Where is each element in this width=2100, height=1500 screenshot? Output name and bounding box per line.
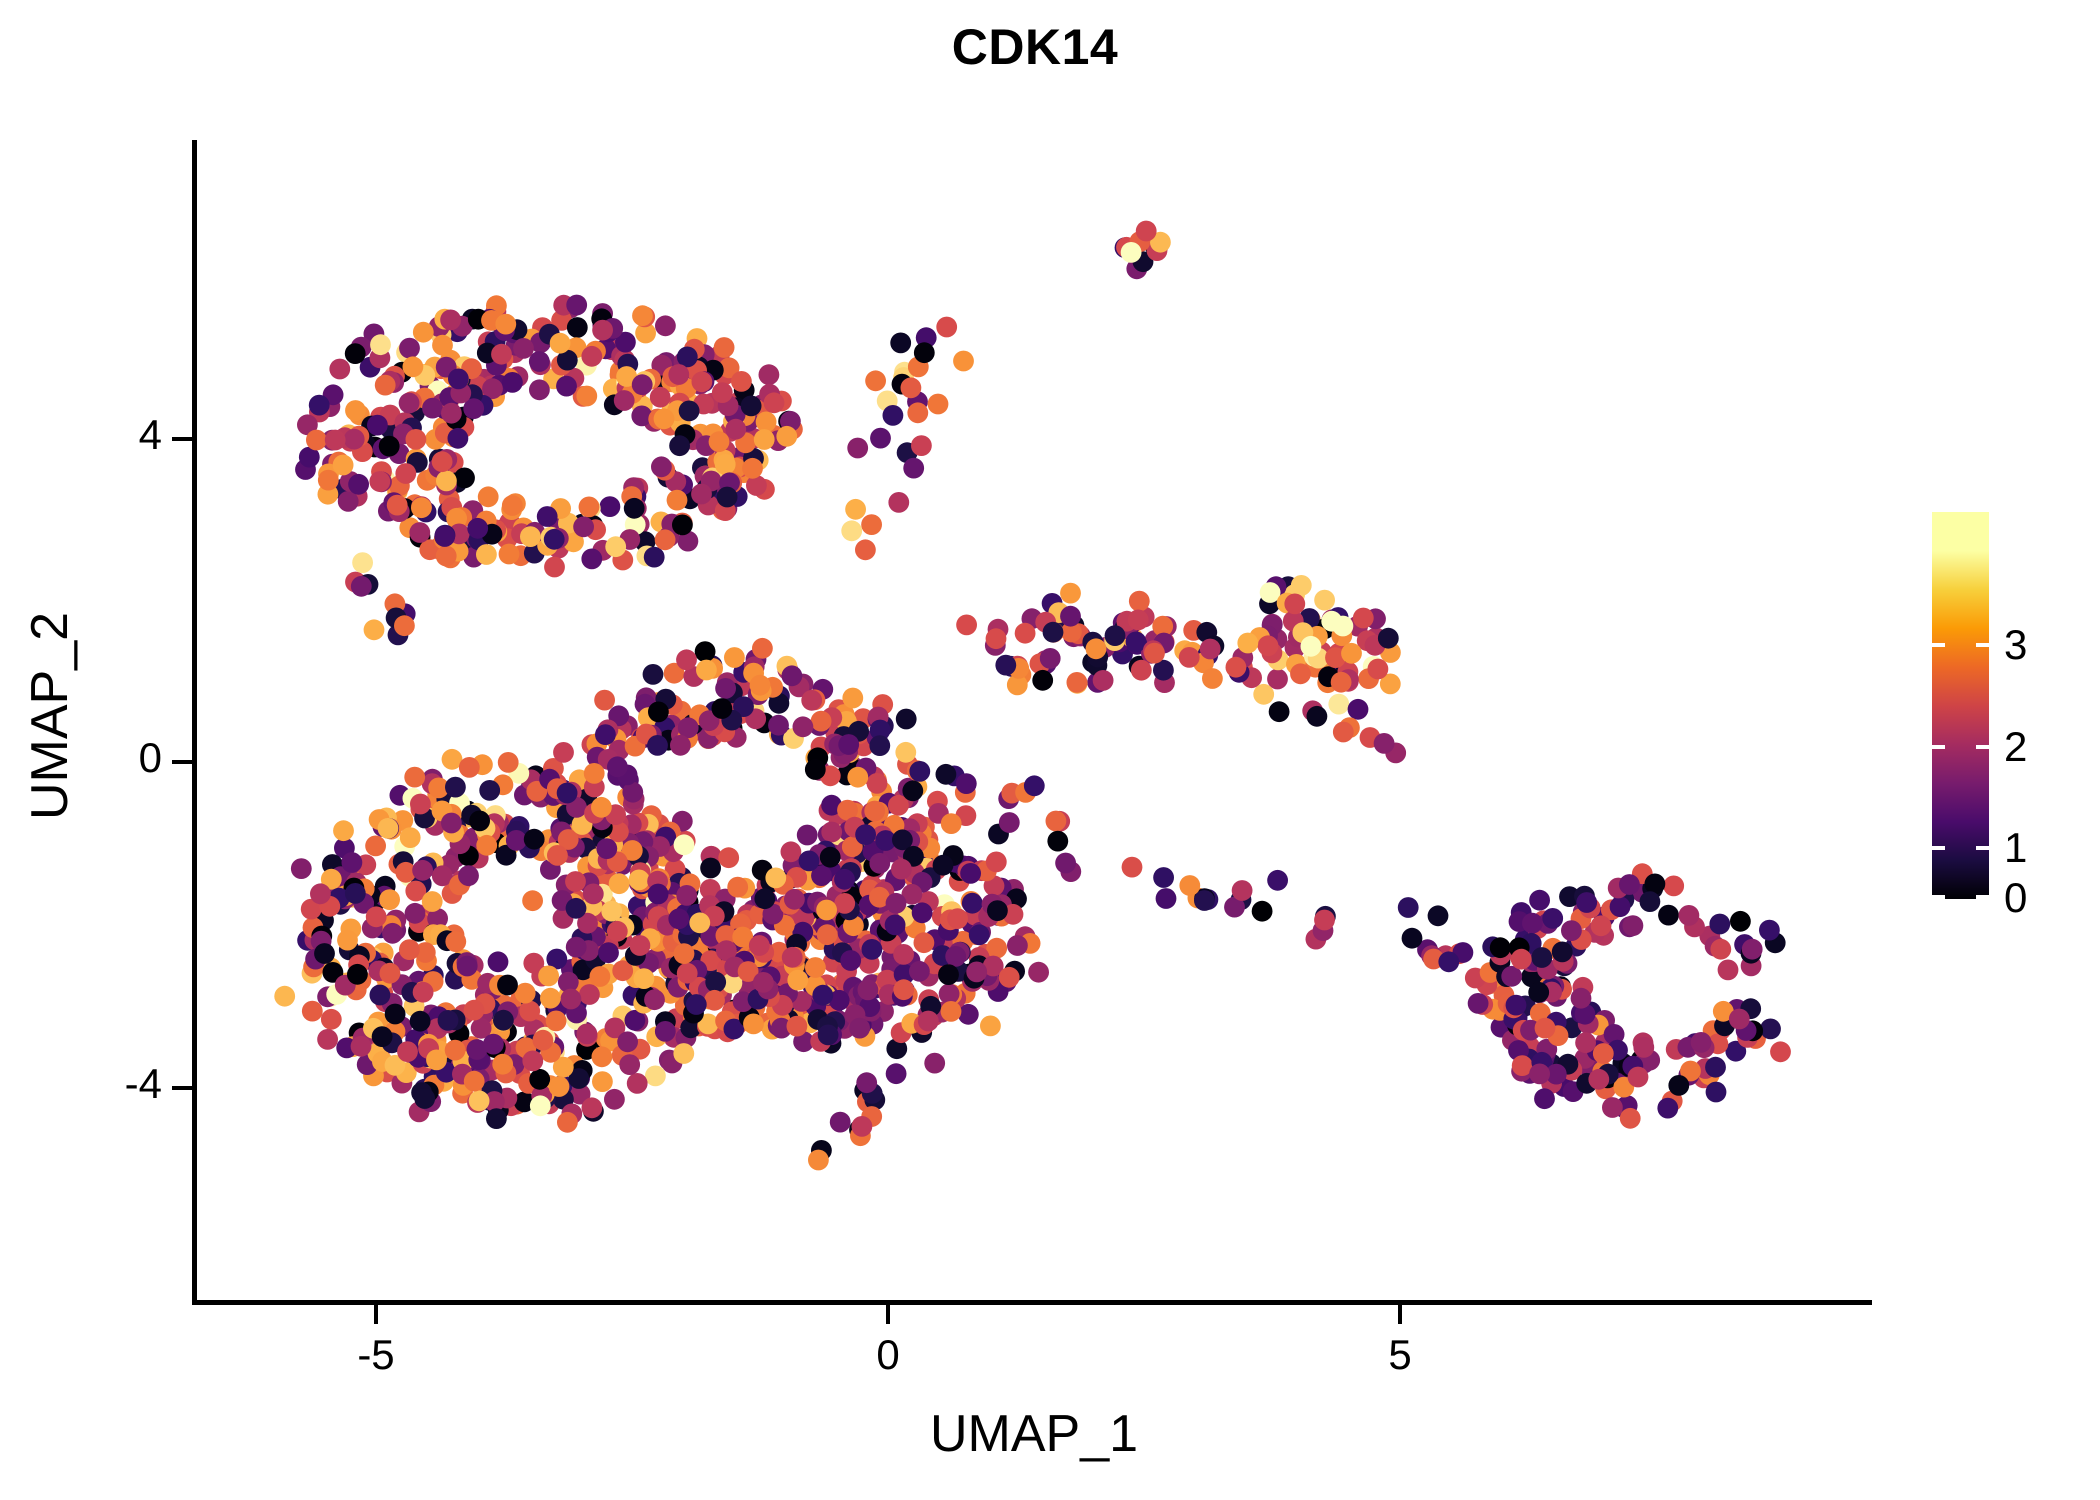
umap-feature-plot: CDK14 4 0 -4 -5 0 5 UMAP_1 UMAP_2 3 2 1 bbox=[0, 0, 2100, 1500]
colorbar-tick-0-left bbox=[1932, 895, 1945, 899]
scatter-points-layer bbox=[196, 140, 1872, 1302]
y-tick-mark-n4 bbox=[172, 1086, 193, 1090]
x-tick-mark-0 bbox=[886, 1303, 890, 1324]
colorbar-tick-2-left bbox=[1932, 745, 1945, 749]
colorbar-gradient bbox=[1932, 512, 1989, 899]
x-tick-label-0: 0 bbox=[876, 1334, 899, 1376]
y-tick-label-0: 0 bbox=[139, 737, 162, 779]
y-axis-title: UMAP_2 bbox=[24, 366, 76, 1066]
x-tick-label-minus-5: -5 bbox=[357, 1334, 394, 1376]
x-tick-mark-n5 bbox=[374, 1303, 378, 1324]
colorbar-tick-1-left bbox=[1932, 846, 1945, 850]
colorbar-label-3: 3 bbox=[2004, 624, 2027, 666]
x-axis-title: UMAP_1 bbox=[196, 1408, 1872, 1460]
y-tick-label-minus-4: -4 bbox=[125, 1063, 162, 1105]
colorbar-legend: 3 2 1 0 bbox=[1932, 512, 2092, 912]
y-axis-line bbox=[192, 140, 197, 1305]
y-tick-mark-4 bbox=[172, 437, 193, 441]
y-tick-mark-0 bbox=[172, 760, 193, 764]
colorbar-tick-3-right bbox=[1976, 643, 1989, 647]
page-title: CDK14 bbox=[195, 22, 1875, 72]
colorbar-label-2: 2 bbox=[2004, 726, 2027, 768]
plot-panel bbox=[196, 140, 1872, 1302]
colorbar-label-1: 1 bbox=[2004, 827, 2027, 869]
colorbar bbox=[1932, 512, 1989, 899]
y-tick-label-4: 4 bbox=[139, 414, 162, 456]
colorbar-tick-0-right bbox=[1976, 895, 1989, 899]
x-tick-mark-5 bbox=[1398, 1303, 1402, 1324]
colorbar-tick-2-right bbox=[1976, 745, 1989, 749]
colorbar-label-0: 0 bbox=[2004, 877, 2027, 919]
colorbar-tick-1-right bbox=[1976, 846, 1989, 850]
x-axis-line bbox=[192, 1300, 1872, 1305]
x-tick-label-5: 5 bbox=[1388, 1334, 1411, 1376]
colorbar-tick-3-left bbox=[1932, 643, 1945, 647]
